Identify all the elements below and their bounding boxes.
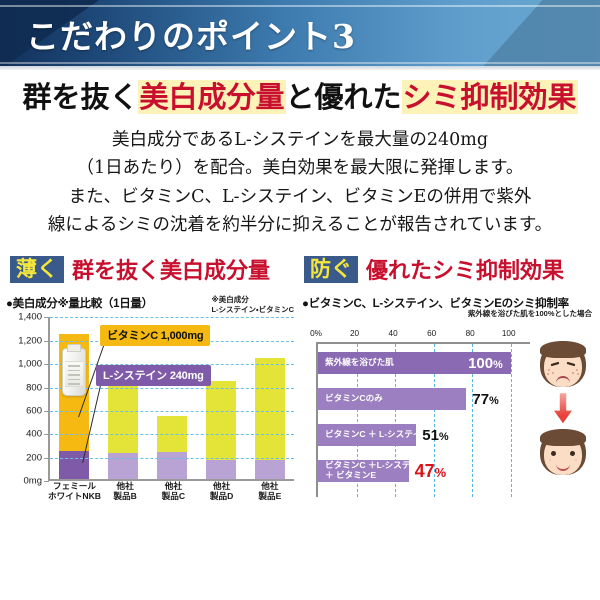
banner-top-stripe <box>0 5 600 7</box>
right-chart-x-label: 80 <box>466 329 475 338</box>
right-chart-axes: 紫外線を浴びた肌100%ビタミンCのみ77%ビタミンC ＋ L-システイン51%… <box>316 342 530 497</box>
body-line-1: 美白成分であるL-システインを最大量の240mg <box>14 126 586 154</box>
left-chart-note-line-1: ※美白成分 <box>211 295 294 304</box>
header-banner: こだわりのポイント3 <box>0 0 600 70</box>
down-arrow-icon <box>554 393 572 423</box>
happy-clear-face-icon <box>536 427 590 477</box>
bottle-label <box>65 361 83 387</box>
right-chart-value-label: 51% <box>422 427 448 444</box>
right-chart-value-label: 77% <box>472 391 498 408</box>
banner-right-wedge <box>480 0 600 70</box>
page-headline: 群を抜く美白成分量と優れたシミ抑制効果 <box>0 82 600 114</box>
right-chart-bar-label: 紫外線を浴びた肌 <box>325 358 394 368</box>
right-chart-row: 紫外線を浴びた肌100% <box>318 352 511 374</box>
right-chart-x-label: 20 <box>350 329 359 338</box>
body-paragraph: 美白成分であるL-システインを最大量の240mg （1日あたり）を配合。美白効果… <box>14 126 586 239</box>
section-heading-row: 薄く 群を抜く美白成分量 防ぐ 優れたシミ抑制効果 <box>10 253 590 285</box>
section-tag-prevent: 防ぐ <box>304 256 358 283</box>
banner-title: こだわりのポイント3 <box>26 10 356 58</box>
right-chart-value-label: 47% <box>415 461 447 482</box>
banner-bottom-stripe <box>0 62 600 64</box>
right-chart-x-label: 40 <box>389 329 398 338</box>
charts-row: ●美白成分※量比較（1日量） ※美白成分 L-システイン・ビタミンC 0mg20… <box>0 295 600 507</box>
section-title-whiten: 群を抜く美白成分量 <box>72 253 270 285</box>
right-chart-value-label: 100% <box>468 355 503 372</box>
sad-freckled-face-icon <box>536 339 590 389</box>
right-chart-x-axis-labels: 0%20406080100 <box>316 329 528 341</box>
ingredient-comparison-chart: ●美白成分※量比較（1日量） ※美白成分 L-システイン・ビタミンC 0mg20… <box>0 295 300 507</box>
product-bottle-image <box>62 348 86 396</box>
right-chart-gridline <box>511 344 512 497</box>
section-tag-whiten: 薄く <box>10 256 64 283</box>
right-chart-x-label: 60 <box>427 329 436 338</box>
section-title-prevent: 優れたシミ抑制効果 <box>366 253 564 285</box>
right-chart-bar: ビタミンC ＋L-システイン＋ ビタミンE <box>318 460 409 482</box>
body-line-3: また、ビタミンC、L-システイン、ビタミンEの併用で紫外 <box>14 183 586 211</box>
right-chart-bar: ビタミンCのみ <box>318 388 466 410</box>
headline-segment-1: 群を抜く <box>22 80 138 114</box>
suppression-rate-chart: ●ビタミンC、L-システイン、ビタミンEのシミ抑制率 紫外線を浴びた肌を100%… <box>300 295 600 507</box>
bottle-cap <box>67 344 81 352</box>
headline-segment-2: と優れた <box>286 80 402 114</box>
headline-highlight-1: 美白成分量 <box>138 80 285 114</box>
right-chart-bar-label: ビタミンC ＋L-システイン＋ ビタミンE <box>325 461 428 481</box>
callout-l-cysteine: L-システイン 240mg <box>96 365 211 386</box>
right-chart-bar: ビタミンC ＋ L-システイン <box>318 424 416 446</box>
callout-vitamin-c: ビタミンC 1,000mg <box>100 325 210 346</box>
body-line-4: 線によるシミの沈着を約半分に抑えることが報告されています。 <box>14 211 586 239</box>
left-chart-note-line-2: L-システイン・ビタミンC <box>211 305 294 314</box>
right-chart-plot-area: 0%20406080100 紫外線を浴びた肌100%ビタミンCのみ77%ビタミン… <box>302 315 596 505</box>
banner-bottom-edge <box>0 66 600 70</box>
right-chart-x-label: 100 <box>502 329 516 338</box>
section-heading-prevent: 防ぐ 優れたシミ抑制効果 <box>304 253 590 285</box>
right-chart-bar-label: ビタミンCのみ <box>325 394 383 404</box>
right-chart-row: ビタミンC ＋L-システイン＋ ビタミンE47% <box>318 460 446 482</box>
left-chart-note: ※美白成分 L-システイン・ビタミンC <box>211 295 294 314</box>
right-chart-bar-label: ビタミンC ＋ L-システイン <box>325 430 430 440</box>
right-chart-bar: 紫外線を浴びた肌100% <box>318 352 511 374</box>
left-chart-plot-area: 0mg2004006008001,0001,2001,400 フェミールホワイト… <box>6 317 296 507</box>
face-illustrations <box>532 339 594 477</box>
right-chart-row: ビタミンCのみ77% <box>318 388 499 410</box>
section-heading-whiten: 薄く 群を抜く美白成分量 <box>10 253 296 285</box>
right-chart-row: ビタミンC ＋ L-システイン51% <box>318 424 449 446</box>
right-chart-x-label: 0% <box>310 329 322 338</box>
body-line-2: （1日あたり）を配合。美白効果を最大限に発揮します。 <box>14 154 586 182</box>
headline-highlight-2: シミ抑制効果 <box>402 80 578 114</box>
